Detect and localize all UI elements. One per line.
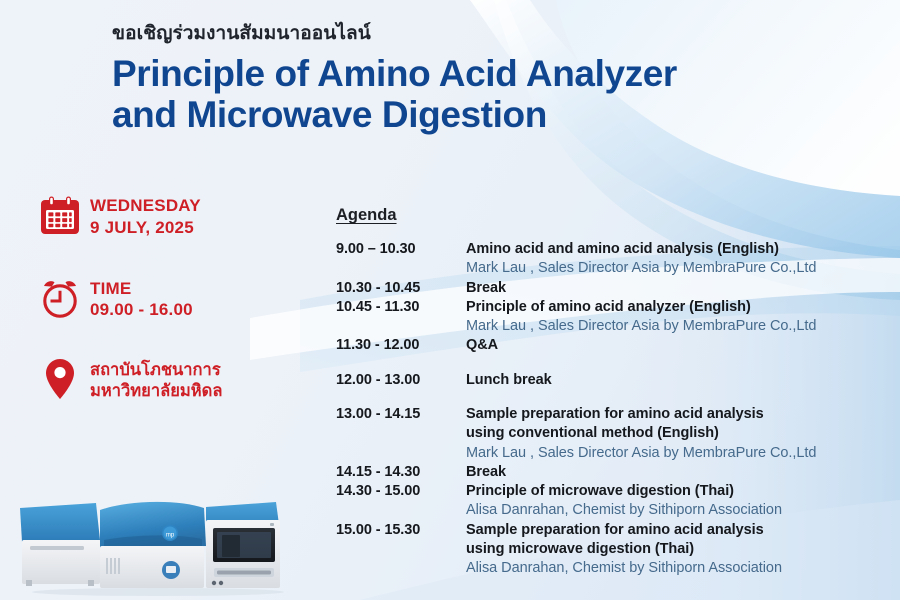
event-date-text: WEDNESDAY 9 JULY, 2025 xyxy=(90,192,201,239)
agenda-row: 15.00 - 15.30 Sample preparation for ami… xyxy=(336,521,892,579)
title-line-2: and Microwave Digestion xyxy=(112,94,832,136)
agenda-topic: Principle of amino acid analyzer (Englis… xyxy=(466,298,892,317)
agenda-detail: Principle of amino acid analyzer (Englis… xyxy=(466,298,892,337)
time-label: TIME xyxy=(90,279,131,298)
agenda-topic-line-1: Sample preparation for amino acid analys… xyxy=(466,406,764,422)
agenda-topic-line-2: using conventional method (English) xyxy=(466,424,892,443)
agenda-row: 10.45 - 11.30 Principle of amino acid an… xyxy=(336,298,892,337)
event-date-label: 9 JULY, 2025 xyxy=(90,217,201,239)
time-value: 09.00 - 16.00 xyxy=(90,299,193,321)
agenda-speaker: Mark Lau , Sales Director Asia by Membra… xyxy=(466,259,892,278)
agenda-detail: Break xyxy=(466,463,892,482)
agenda-detail: Lunch break xyxy=(466,371,892,390)
agenda-speaker: Alisa Danrahan, Chemist by Sithiporn Ass… xyxy=(466,501,892,520)
instrument-right-module xyxy=(206,502,280,588)
agenda-section: Agenda 9.00 – 10.30 Amino acid and amino… xyxy=(336,206,892,579)
agenda-time: 15.00 - 15.30 xyxy=(336,521,466,540)
location-line-1: สถาบันโภชนาการ xyxy=(90,361,221,379)
agenda-detail: Principle of microwave digestion (Thai) … xyxy=(466,482,892,521)
event-location-row: สถาบันโภชนาการ มหาวิทยาลัยมหิดล xyxy=(38,357,306,403)
agenda-detail: Break xyxy=(466,279,892,298)
agenda-row: 13.00 - 14.15 Sample preparation for ami… xyxy=(336,405,892,463)
agenda-detail: Q&A xyxy=(466,336,892,355)
agenda-topic: Q&A xyxy=(466,336,892,355)
instrument-center-module: mp xyxy=(100,502,206,588)
title-line-1: Principle of Amino Acid Analyzer xyxy=(112,53,677,94)
clock-icon xyxy=(38,275,90,321)
amino-acid-analyzer-photo: mp xyxy=(8,480,308,600)
svg-text:mp: mp xyxy=(166,533,175,539)
page-title: Principle of Amino Acid Analyzer and Mic… xyxy=(112,53,832,137)
agenda-row: 11.30 - 12.00 Q&A xyxy=(336,336,892,355)
agenda-row: 12.00 - 13.00 Lunch break xyxy=(336,371,892,390)
agenda-row: 9.00 – 10.30 Amino acid and amino acid a… xyxy=(336,240,892,279)
agenda-topic: Lunch break xyxy=(466,371,892,390)
agenda-time: 10.30 - 10.45 xyxy=(336,279,466,298)
poster-header: ขอเชิญร่วมงานสัมมนาออนไลน์ Principle of … xyxy=(112,22,832,136)
agenda-topic: Break xyxy=(466,279,892,298)
agenda-time: 13.00 - 14.15 xyxy=(336,405,466,424)
agenda-row: 14.15 - 14.30 Break xyxy=(336,463,892,482)
agenda-time: 9.00 – 10.30 xyxy=(336,240,466,259)
event-time-row: TIME 09.00 - 16.00 xyxy=(38,275,306,322)
agenda-speaker: Mark Lau , Sales Director Asia by Membra… xyxy=(466,444,892,463)
agenda-detail: Sample preparation for amino acid analys… xyxy=(466,405,892,463)
agenda-time: 10.45 - 11.30 xyxy=(336,298,466,317)
agenda-detail: Sample preparation for amino acid analys… xyxy=(466,521,892,579)
agenda-topic-line-1: Sample preparation for amino acid analys… xyxy=(466,522,764,538)
event-info-column: WEDNESDAY 9 JULY, 2025 TIME 09.00 - 16.0… xyxy=(38,192,306,403)
event-location-text: สถาบันโภชนาการ มหาวิทยาลัยมหิดล xyxy=(90,357,222,403)
agenda-time: 14.15 - 14.30 xyxy=(336,463,466,482)
invitation-thai-text: ขอเชิญร่วมงานสัมมนาออนไลน์ xyxy=(112,22,832,47)
agenda-row: 14.30 - 15.00 Principle of microwave dig… xyxy=(336,482,892,521)
calendar-icon xyxy=(38,192,90,238)
event-day-label: WEDNESDAY xyxy=(90,196,201,215)
agenda-topic: Amino acid and amino acid analysis (Engl… xyxy=(466,240,892,259)
agenda-topic: Sample preparation for amino acid analys… xyxy=(466,405,892,444)
agenda-time: 12.00 - 13.00 xyxy=(336,371,466,390)
seminar-poster: ขอเชิญร่วมงานสัมมนาออนไลน์ Principle of … xyxy=(0,0,900,600)
agenda-time: 14.30 - 15.00 xyxy=(336,482,466,501)
event-time-text: TIME 09.00 - 16.00 xyxy=(90,275,193,322)
agenda-topic: Break xyxy=(466,463,892,482)
agenda-speaker: Mark Lau , Sales Director Asia by Membra… xyxy=(466,317,892,336)
agenda-topic-line-2: using microwave digestion (Thai) xyxy=(466,540,892,559)
agenda-speaker: Alisa Danrahan, Chemist by Sithiporn Ass… xyxy=(466,559,892,578)
agenda-heading: Agenda xyxy=(336,206,397,225)
event-date-row: WEDNESDAY 9 JULY, 2025 xyxy=(38,192,306,239)
agenda-topic: Sample preparation for amino acid analys… xyxy=(466,521,892,560)
instrument-left-module xyxy=(20,503,100,586)
agenda-time: 11.30 - 12.00 xyxy=(336,336,466,355)
agenda-detail: Amino acid and amino acid analysis (Engl… xyxy=(466,240,892,279)
map-pin-icon xyxy=(38,357,90,401)
agenda-row: 10.30 - 10.45 Break xyxy=(336,279,892,298)
agenda-topic: Principle of microwave digestion (Thai) xyxy=(466,482,892,501)
location-line-2: มหาวิทยาลัยมหิดล xyxy=(90,381,222,402)
